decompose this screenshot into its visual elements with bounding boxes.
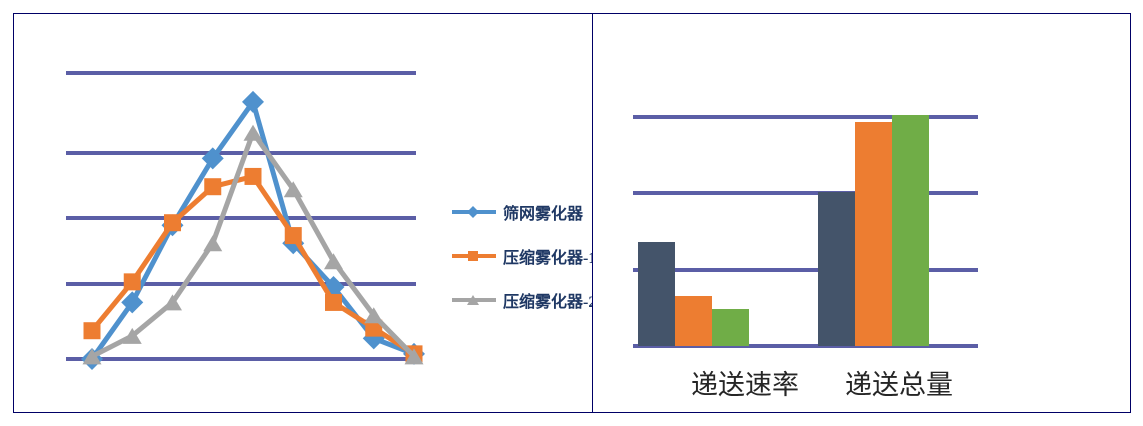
dual-chart-figure: 筛网雾化器 压缩雾化器-1 压缩雾化器-2 (0, 0, 1143, 426)
legend-item-label: 压缩雾化器-1 (503, 244, 596, 268)
left-chart-legend: 筛网雾化器 压缩雾化器-1 压缩雾化器-2 (452, 190, 596, 322)
legend-item-label: 筛网雾化器 (503, 200, 583, 224)
legend-item[interactable]: 压缩雾化器-2 (452, 278, 596, 322)
bar-chart-plot-area (593, 14, 1130, 411)
bar-0-2 (712, 309, 749, 346)
square-marker-icon (467, 250, 479, 262)
data-point-marker (204, 178, 221, 195)
legend-key-line-triangle (452, 298, 496, 302)
bar-1-1 (855, 122, 892, 346)
data-point-marker (84, 322, 101, 339)
legend-item-label: 压缩雾化器-2 (503, 288, 596, 312)
bar-1-2 (892, 115, 929, 346)
diamond-marker-icon (467, 206, 479, 218)
category-label-0: 递送速率 (691, 363, 799, 402)
data-point-marker (203, 235, 222, 251)
legend-key-line-square (452, 254, 496, 258)
bar-0-0 (638, 242, 675, 346)
data-point-marker (124, 273, 141, 290)
legend-key-line-diamond (452, 210, 496, 214)
triangle-marker-icon (467, 294, 479, 306)
data-point-marker (325, 294, 342, 311)
right-chart-panel: 递送速率 递送总量 筛网雾化器 压缩雾化器-1 压缩雾化器-2 (592, 13, 1131, 413)
data-point-marker (324, 253, 343, 269)
legend-item[interactable]: 压缩雾化器-1 (452, 234, 596, 278)
bars-layer (593, 14, 1130, 411)
bar-1-0 (818, 192, 855, 346)
legend-item[interactable]: 筛网雾化器 (452, 190, 596, 234)
data-point-marker (245, 168, 262, 185)
data-point-marker (285, 227, 302, 244)
left-chart-panel: 筛网雾化器 压缩雾化器-1 压缩雾化器-2 (13, 13, 593, 413)
category-label-1: 递送总量 (845, 363, 953, 402)
data-point-marker (164, 214, 181, 231)
bar-0-1 (675, 296, 712, 346)
